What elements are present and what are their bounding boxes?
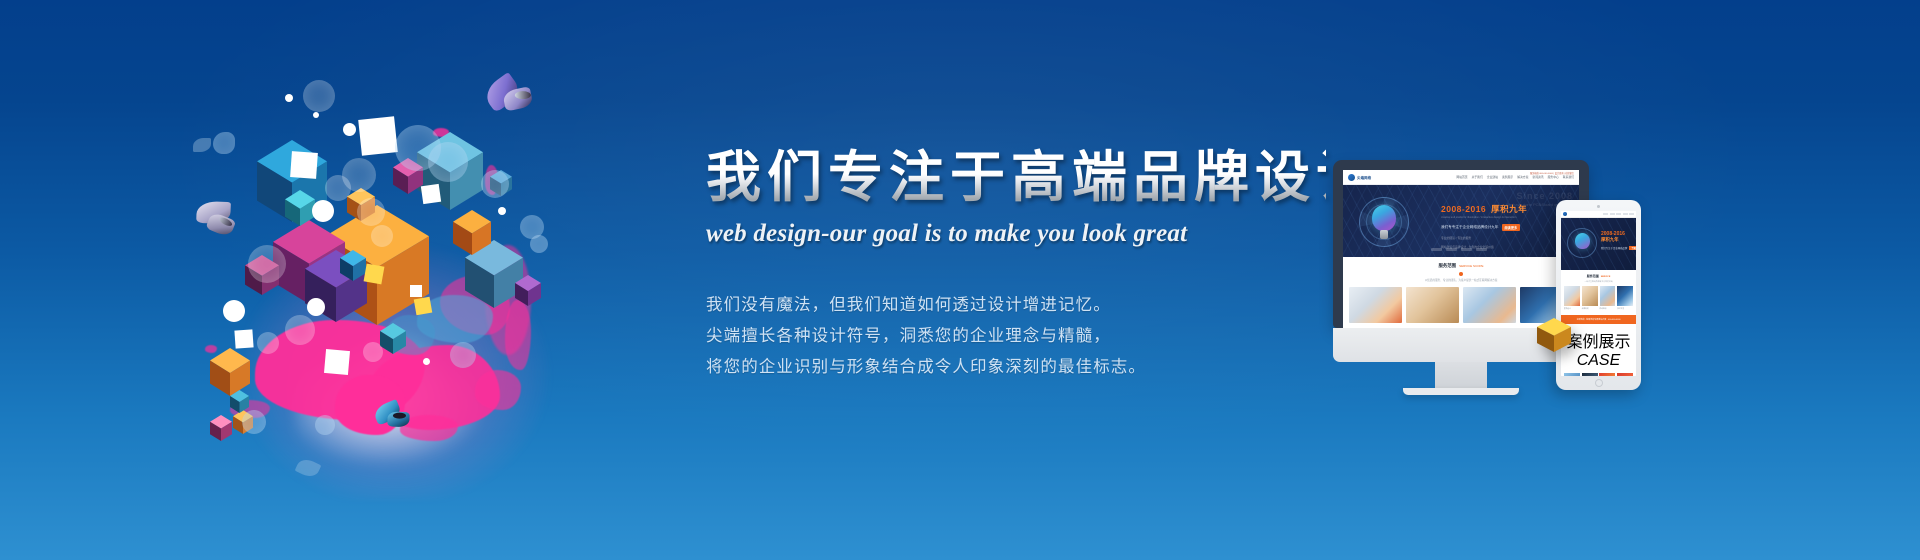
- menu-item[interactable]: [1616, 213, 1621, 215]
- cube-small-bottom-a: [210, 415, 232, 441]
- abstract-artwork: [185, 70, 665, 490]
- mobile-cta-badge[interactable]: 了解更多: [1629, 246, 1636, 250]
- mobile-logo-icon: [1563, 212, 1567, 216]
- mobile-screen: 2008-2016 厚积九年 我们专注于企业网络品牌 了解更多 服务范围SERV…: [1561, 211, 1636, 376]
- menu-item[interactable]: 解决方案: [1517, 175, 1528, 179]
- home-button-icon[interactable]: [1595, 379, 1603, 387]
- bubble: [307, 298, 325, 316]
- menu-item[interactable]: 网站首页: [1456, 175, 1467, 179]
- cube-cyan-small: [285, 190, 315, 226]
- monitor-bezel: 服务热线 400-000-0000 | 设计咨询 | 在线留言 尖端网络 网站首…: [1333, 160, 1589, 328]
- cube-teal-bottom: [380, 323, 406, 354]
- mobile-card-caption: 品牌视觉: [1582, 308, 1598, 311]
- cube-right-edge: [515, 275, 541, 306]
- hero-years-suffix: 厚积九年: [1491, 204, 1527, 214]
- bubble: [242, 410, 266, 434]
- butterfly-icon: [373, 397, 421, 435]
- mobile-card-caption: 策划设计: [1564, 308, 1580, 311]
- page-subtitle: web design-our goal is to make you look …: [706, 220, 1326, 248]
- bubble: [315, 415, 335, 435]
- slider-dot[interactable]: [1476, 248, 1487, 251]
- mobile-lightbulb-icon: [1567, 228, 1597, 258]
- cube-gold-floating: [1537, 318, 1571, 352]
- section-marker-icon: [1459, 272, 1463, 276]
- bubble: [370, 145, 379, 154]
- service-card-thumb[interactable]: [1349, 287, 1402, 323]
- menu-item[interactable]: [1610, 213, 1615, 215]
- hero-banner: 我们专注于高端品牌设计 web design-our goal is to ma…: [0, 0, 1920, 560]
- bubble: [312, 200, 334, 222]
- menu-item[interactable]: [1629, 213, 1634, 215]
- hero-years: 2008-2016厚积九年: [1441, 203, 1527, 215]
- white-square: [414, 297, 433, 316]
- bubble: [257, 332, 279, 354]
- mobile-section-title-en: SERVICE: [1601, 276, 1611, 278]
- bubble: [285, 315, 315, 345]
- bubble: [428, 142, 468, 182]
- section-title: 服务范围: [1438, 263, 1456, 268]
- mobile-card-caption: 技术开发: [1617, 308, 1633, 311]
- cube-orange-right: [453, 210, 491, 255]
- paint-splatter: [505, 300, 531, 370]
- description-line-1: 我们没有魔法，但我们知道如何透过设计增进记忆。: [706, 290, 1326, 321]
- menu-item[interactable]: 联系我们: [1563, 175, 1574, 179]
- hero-english: creative and studio for illustration / i…: [1441, 216, 1527, 219]
- white-square: [421, 184, 441, 204]
- bubble: [530, 235, 548, 253]
- mobile-gallery-row: [1564, 373, 1633, 376]
- mobile-gallery-title: 案例展示: [1566, 334, 1630, 351]
- mobile-cta-bar[interactable]: 立即咨询 · 获取您的专属建站方案 · 400-000-0000: [1561, 315, 1636, 324]
- menu-item[interactable]: 关于我们: [1472, 175, 1483, 179]
- site-hero: Since 2008 We have done PCB/Board origin…: [1343, 185, 1579, 257]
- mobile-section-title: 服务范围: [1587, 274, 1599, 278]
- site-navbar: 服务热线 400-000-0000 | 设计咨询 | 在线留言 尖端网络 网站首…: [1343, 170, 1579, 185]
- mobile-body: 服务范围SERVICE 一站式互联网品牌解决方案提供商 策划设计 品牌视觉 移动…: [1561, 270, 1636, 376]
- mobile-card-thumb[interactable]: [1600, 286, 1616, 306]
- white-square: [410, 285, 422, 297]
- mobile-card-thumb[interactable]: [1582, 286, 1598, 306]
- description-line-3: 将您的企业识别与形象结合成令人印象深刻的最佳标志。: [706, 352, 1326, 383]
- gallery-thumb[interactable]: [1564, 373, 1580, 376]
- site-menu: 网站首页 关于我们 企业建站 案例展示 解决方案 新闻资讯 服务中心 联系我们: [1456, 175, 1574, 179]
- bulb-glass: [1372, 205, 1396, 231]
- logo-mark-icon: [1348, 174, 1355, 181]
- site-body: 服务范围SERVICE SCOPE 以优质的服务、专业的团队，为客户提供一站式互…: [1343, 257, 1579, 323]
- bubble: [303, 80, 335, 112]
- mobile-bulb-glass: [1575, 233, 1590, 249]
- slider-dot[interactable]: [1461, 248, 1472, 251]
- mobile-card-caption: 移动应用: [1600, 308, 1616, 311]
- device-mockups: 服务热线 400-000-0000 | 设计咨询 | 在线留言 尖端网络 网站首…: [1325, 160, 1675, 400]
- hero-sub: 专业的团队 / 专注的服务: [1441, 236, 1527, 240]
- bubble: [363, 342, 383, 362]
- mobile-card-thumb[interactable]: [1564, 286, 1580, 306]
- slider-dot[interactable]: [1431, 248, 1442, 251]
- mobile-navbar: [1561, 211, 1636, 218]
- service-card-thumb[interactable]: [1463, 287, 1516, 323]
- mobile-service-header: 服务范围SERVICE 一站式互联网品牌解决方案提供商: [1564, 274, 1633, 283]
- bubble: [213, 132, 235, 154]
- menu-item[interactable]: 案例展示: [1502, 175, 1513, 179]
- hero-text: 2008-2016厚积九年 creative and studio for il…: [1441, 203, 1527, 249]
- section-title-en: SERVICE SCOPE: [1459, 264, 1483, 268]
- slider-dot[interactable]: [1446, 248, 1457, 251]
- bubble: [371, 225, 393, 247]
- mobile-gallery-header: 案例展示CASE: [1564, 328, 1633, 370]
- description-line-2: 尖端擅长各种设计符号，洞悉您的企业理念与精髓，: [706, 321, 1326, 352]
- desktop-mockup: 服务热线 400-000-0000 | 设计咨询 | 在线留言 尖端网络 网站首…: [1333, 160, 1589, 395]
- gallery-thumb[interactable]: [1582, 373, 1598, 376]
- mobile-gallery-title-row: 案例展示CASE: [1564, 328, 1633, 370]
- menu-item[interactable]: [1603, 213, 1608, 215]
- mobile-menu[interactable]: [1603, 213, 1634, 215]
- white-square: [364, 264, 385, 285]
- bubble: [498, 207, 506, 215]
- mobile-hero: 2008-2016 厚积九年 我们专注于企业网络品牌 了解更多: [1561, 218, 1636, 270]
- bulb-base: [1380, 230, 1388, 239]
- bubble: [248, 245, 286, 283]
- mobile-hero-text: 2008-2016 厚积九年 我们专注于企业网络品牌 了解更多: [1601, 231, 1636, 250]
- mobile-card-thumb[interactable]: [1617, 286, 1633, 306]
- cube-small-bottom-c: [230, 390, 249, 413]
- butterfly-icon: [480, 68, 548, 126]
- bubble: [481, 170, 509, 198]
- service-card-thumb[interactable]: [1406, 287, 1459, 323]
- gallery-thumb[interactable]: [1617, 373, 1633, 376]
- section-title-row: 服务范围SERVICE SCOPE: [1349, 263, 1573, 269]
- site-logo: 尖端网络: [1348, 174, 1371, 181]
- front-camera-icon: [1597, 205, 1600, 208]
- description-paragraph: 我们没有魔法，但我们知道如何透过设计增进记忆。 尖端擅长各种设计符号，洞悉您的企…: [706, 290, 1326, 383]
- bubble: [357, 198, 385, 226]
- lightbulb-icon: [1359, 197, 1409, 247]
- mobile-section-title-row: 服务范围SERVICE: [1564, 274, 1633, 278]
- monitor-screen: 服务热线 400-000-0000 | 设计咨询 | 在线留言 尖端网络 网站首…: [1343, 170, 1579, 328]
- bubble: [343, 123, 356, 136]
- mobile-card-row: [1564, 286, 1633, 306]
- service-section-header: 服务范围SERVICE SCOPE 以优质的服务、专业的团队，为客户提供一站式互…: [1349, 263, 1573, 282]
- section-desc: 以优质的服务、专业的团队，为客户提供一站式互联网解决方案: [1349, 278, 1573, 282]
- menu-item[interactable]: [1623, 213, 1628, 215]
- hero-years-range: 2008-2016: [1441, 204, 1486, 214]
- white-square: [234, 329, 253, 348]
- bubble: [423, 358, 430, 365]
- mobile-section-desc: 一站式互联网品牌解决方案提供商: [1564, 280, 1633, 283]
- bubble: [313, 112, 319, 118]
- cube-blue-mid: [340, 250, 366, 281]
- mobile-cta-text: 立即咨询 · 获取您的专属建站方案 · 400-000-0000: [1576, 318, 1620, 321]
- menu-item[interactable]: 新闻资讯: [1532, 175, 1543, 179]
- monitor-foot: [1403, 388, 1519, 395]
- mobile-gallery-title-en: CASE: [1577, 352, 1621, 369]
- paint-splatter: [475, 370, 521, 410]
- copy-block: 我们专注于高端品牌设计 web design-our goal is to ma…: [706, 148, 1326, 383]
- hero-cta-badge[interactable]: 阅读更多: [1502, 224, 1521, 231]
- hero-tagline: 我们专专注于企业网络品牌设计九年: [1441, 225, 1499, 230]
- white-square: [324, 349, 350, 375]
- white-square: [290, 151, 318, 179]
- mobile-card-captions: 策划设计 品牌视觉 移动应用 技术开发: [1564, 308, 1633, 311]
- bubble: [325, 175, 351, 201]
- menu-item[interactable]: 企业建站: [1487, 175, 1498, 179]
- site-topbar-text: 服务热线 400-000-0000 | 设计咨询 | 在线留言: [1530, 171, 1574, 175]
- menu-item[interactable]: 服务中心: [1548, 175, 1559, 179]
- bubble: [285, 94, 293, 102]
- butterfly-icon: [191, 194, 255, 246]
- mobile-mockup: 2008-2016 厚积九年 我们专注于企业网络品牌 了解更多 服务范围SERV…: [1556, 200, 1641, 390]
- mobile-tagline-row: 我们专注于企业网络品牌 了解更多: [1601, 246, 1636, 250]
- gallery-thumb[interactable]: [1599, 373, 1615, 376]
- hero-slider-dots[interactable]: [1431, 248, 1487, 251]
- page-title: 我们专注于高端品牌设计: [706, 148, 1326, 207]
- cube-orange-lowleft: [210, 348, 250, 396]
- mobile-tagline: 我们专注于企业网络品牌: [1601, 246, 1627, 250]
- logo-text: 尖端网络: [1357, 175, 1371, 180]
- monitor-neck: [1435, 362, 1487, 388]
- bubble: [223, 300, 245, 322]
- mobile-hero-years-suffix: 厚积九年: [1601, 237, 1636, 243]
- bubble: [450, 342, 476, 368]
- flake-shape: [193, 138, 211, 152]
- hero-tagline-row: 我们专专注于企业网络品牌设计九年 阅读更多: [1441, 224, 1527, 231]
